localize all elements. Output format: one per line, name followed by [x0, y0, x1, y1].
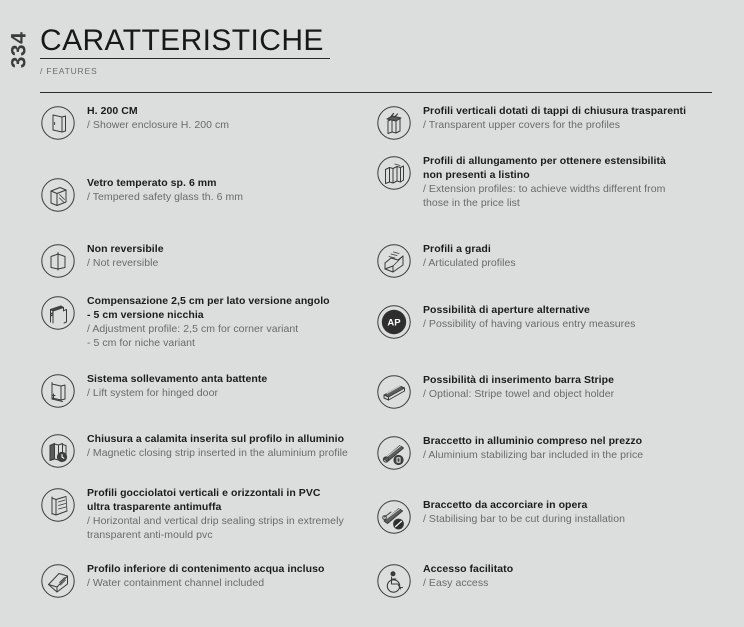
non-reversible-icon — [40, 243, 76, 279]
feature-text: Non reversibile/ Not reversible — [76, 242, 164, 271]
feature-title-english: / Stabilising bar to be cut during insta… — [423, 513, 625, 527]
feature-item: Non reversibile/ Not reversible — [40, 242, 385, 279]
feature-title-english: / Easy access — [423, 577, 513, 591]
feature-title-italian: Profili verticali dotati di tappi di chi… — [423, 105, 686, 119]
feature-title-italian: H. 200 CM — [87, 105, 229, 119]
magnetic-closing-strip-icon — [40, 433, 76, 469]
feature-text: Accesso facilitato/ Easy access — [412, 562, 513, 591]
feature-title-italian: Vetro temperato sp. 6 mm — [87, 177, 243, 191]
feature-text: Possibilità di inserimento barra Stripe/… — [412, 373, 614, 402]
feature-title-italian: Profilo inferiore di contenimento acqua … — [87, 563, 324, 577]
feature-title-italian: Profili gocciolatoi verticali e orizzont… — [87, 487, 344, 501]
feature-item: Possibilità di inserimento barra Stripe/… — [376, 373, 721, 410]
stripe-bar-icon — [376, 374, 412, 410]
feature-title-italian: Compensazione 2,5 cm per lato versione a… — [87, 295, 330, 309]
feature-text: Profilo inferiore di contenimento acqua … — [76, 562, 324, 591]
feature-item: Vetro temperato sp. 6 mm/ Tempered safet… — [40, 176, 385, 213]
feature-title-english: / Optional: Stripe towel and object hold… — [423, 388, 614, 402]
feature-title-italian: Possibilità di inserimento barra Stripe — [423, 374, 614, 388]
svg-text:AP: AP — [387, 318, 401, 329]
feature-item: Braccetto in alluminio compreso nel prez… — [376, 434, 721, 471]
feature-title-italian: Possibilità di aperture alternative — [423, 304, 635, 318]
feature-text: H. 200 CM/ Shower enclosure H. 200 cm — [76, 104, 229, 133]
feature-title-italian: non presenti a listino — [423, 169, 666, 183]
feature-item: APPossibilità di aperture alternative/ P… — [376, 303, 721, 340]
alternative-openings-ap-icon: AP — [376, 304, 412, 340]
shower-enclosure-height-icon — [40, 105, 76, 141]
articulated-profiles-icon — [376, 243, 412, 279]
feature-text: Possibilità di aperture alternative/ Pos… — [412, 303, 635, 332]
feature-item: Profili gocciolatoi verticali e orizzont… — [40, 486, 385, 543]
feature-text: Sistema sollevamento anta battente/ Lift… — [76, 372, 267, 401]
transparent-upper-covers-icon — [376, 105, 412, 141]
feature-item: Profilo inferiore di contenimento acqua … — [40, 562, 385, 599]
feature-text: Profili di allungamento per ottenere est… — [412, 154, 666, 211]
feature-title-italian: Sistema sollevamento anta battente — [87, 373, 267, 387]
feature-title-italian: Braccetto in alluminio compreso nel prez… — [423, 435, 643, 449]
feature-item: Profili verticali dotati di tappi di chi… — [376, 104, 721, 141]
header-divider — [40, 92, 712, 93]
feature-title-english: / Lift system for hinged door — [87, 387, 267, 401]
feature-title-english: / Extension profiles: to achieve widths … — [423, 183, 666, 197]
feature-text: Vetro temperato sp. 6 mm/ Tempered safet… — [76, 176, 243, 205]
feature-title-english: / Not reversible — [87, 257, 164, 271]
easy-access-wheelchair-icon — [376, 563, 412, 599]
drip-sealing-strips-icon — [40, 487, 76, 523]
page-title: CARATTERISTICHE — [40, 24, 330, 59]
feature-item: Accesso facilitato/ Easy access — [376, 562, 721, 599]
feature-text: Braccetto da accorciare in opera/ Stabil… — [412, 498, 625, 527]
feature-title-english: / Articulated profiles — [423, 257, 516, 271]
adjustment-profile-icon — [40, 295, 76, 331]
feature-title-english: / Horizontal and vertical drip sealing s… — [87, 515, 344, 529]
feature-title-english: / Aluminium stabilizing bar included in … — [423, 449, 643, 463]
feature-title-english: / Transparent upper covers for the profi… — [423, 119, 686, 133]
feature-title-english: / Possibility of having various entry me… — [423, 318, 635, 332]
feature-text: Profili verticali dotati di tappi di chi… — [412, 104, 686, 133]
feature-title-italian: Braccetto da accorciare in opera — [423, 499, 625, 513]
stabilizing-bar-included-icon — [376, 435, 412, 471]
feature-text: Compensazione 2,5 cm per lato versione a… — [76, 294, 330, 351]
feature-title-english: transparent anti-mould pvc — [87, 529, 344, 543]
feature-title-english: / Magnetic closing strip inserted in the… — [87, 447, 348, 461]
feature-text: Braccetto in alluminio compreso nel prez… — [412, 434, 643, 463]
feature-title-english: / Shower enclosure H. 200 cm — [87, 119, 229, 133]
lift-system-icon — [40, 373, 76, 409]
feature-item: Chiusura a calamita inserita sul profilo… — [40, 432, 385, 469]
page-header: CARATTERISTICHE / FEATURES — [40, 24, 712, 76]
feature-title-italian: Profili a gradi — [423, 243, 516, 257]
extension-profiles-icon — [376, 155, 412, 191]
feature-title-english: those in the price list — [423, 197, 666, 211]
feature-title-english: / Tempered safety glass th. 6 mm — [87, 191, 243, 205]
feature-text: Profili gocciolatoi verticali e orizzont… — [76, 486, 344, 543]
feature-text: Profili a gradi/ Articulated profiles — [412, 242, 516, 271]
stabilizing-bar-cut-icon — [376, 499, 412, 535]
feature-item: H. 200 CM/ Shower enclosure H. 200 cm — [40, 104, 385, 141]
feature-title-italian: - 5 cm versione nicchia — [87, 309, 330, 323]
page-number-value: 334 — [7, 32, 31, 69]
feature-title-italian: Accesso facilitato — [423, 563, 513, 577]
water-containment-channel-icon — [40, 563, 76, 599]
page-subtitle: / FEATURES — [40, 66, 712, 76]
tempered-glass-icon — [40, 177, 76, 213]
feature-title-italian: Non reversibile — [87, 243, 164, 257]
feature-title-english: - 5 cm for niche variant — [87, 337, 330, 351]
feature-item: Profili a gradi/ Articulated profiles — [376, 242, 721, 279]
feature-item: Braccetto da accorciare in opera/ Stabil… — [376, 498, 721, 535]
feature-title-italian: Profili di allungamento per ottenere est… — [423, 155, 666, 169]
feature-title-english: / Water containment channel included — [87, 577, 324, 591]
feature-item: Profili di allungamento per ottenere est… — [376, 154, 721, 211]
feature-text: Chiusura a calamita inserita sul profilo… — [76, 432, 348, 461]
feature-item: Sistema sollevamento anta battente/ Lift… — [40, 372, 385, 409]
feature-title-italian: ultra trasparente antimuffa — [87, 501, 344, 515]
page-number: 334 — [2, 20, 36, 80]
feature-title-italian: Chiusura a calamita inserita sul profilo… — [87, 433, 348, 447]
feature-item: Compensazione 2,5 cm per lato versione a… — [40, 294, 385, 351]
feature-title-english: / Adjustment profile: 2,5 cm for corner … — [87, 323, 330, 337]
